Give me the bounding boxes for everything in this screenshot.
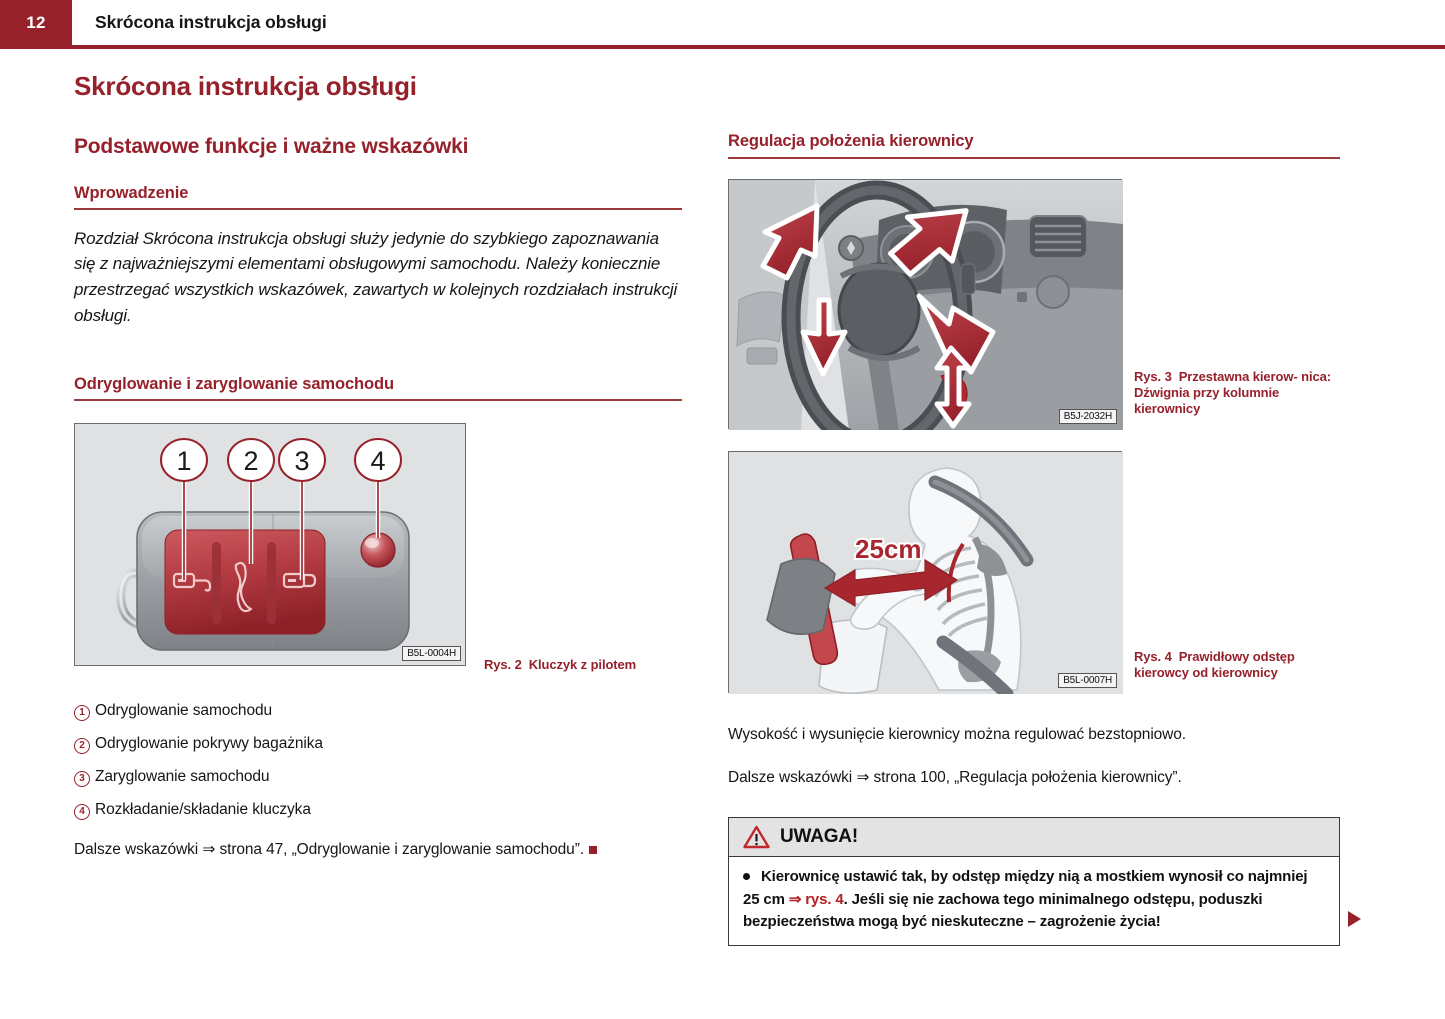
callout-number-2: 2 — [74, 738, 90, 754]
warning-figure-reference: ⇒ rys. 4 — [789, 891, 844, 908]
key-fob-illustration: 1 2 3 4 — [75, 424, 467, 667]
warning-bullet — [743, 873, 750, 880]
steering-wheel-illustration — [729, 180, 1123, 430]
figure-code-label: B5J-2032H — [1059, 409, 1117, 424]
figure-callout-3: 3 — [279, 439, 325, 481]
distance-label: 25cm — [855, 534, 922, 564]
list-item-label: Rozkładanie/składanie kluczyka — [95, 801, 311, 819]
warning-title: UWAGA! — [780, 826, 858, 848]
warning-text: Kierownicę ustawić tak, by odstęp między… — [743, 866, 1325, 932]
figure-callout-4: 4 — [355, 439, 401, 481]
warning-header: UWAGA! — [729, 818, 1339, 857]
key-fob-button-list: 1 Odryglowanie samochodu 2 Odryglowanie … — [74, 702, 682, 820]
figure-caption-key-fob: Rys. 2 Kluczyk z pilotem — [484, 657, 684, 673]
list-item: 3 Zaryglowanie samochodu — [74, 768, 682, 787]
section-title-basic-functions: Podstawowe funkcje i ważne wskazówki — [74, 135, 682, 158]
svg-text:2: 2 — [243, 446, 258, 476]
header-title: Skrócona instrukcja obsługi — [95, 0, 327, 45]
list-item: 4 Rozkładanie/składanie kluczyka — [74, 801, 682, 820]
figure-caption-steering-wheel: Rys. 3 Przestawna kierow- nica: Dźwignia… — [1134, 369, 1340, 418]
left-column: Skrócona instrukcja obsługi Podstawowe f… — [74, 72, 682, 861]
page-header: 12 Skrócona instrukcja obsługi — [0, 0, 1445, 49]
further-info-note-left: Dalsze wskazówki ⇒ strona 47, „Odryglowa… — [74, 838, 682, 861]
figure-caption-text: Kluczyk z pilotem — [529, 657, 636, 672]
figure-caption-driver-distance: Rys. 4 Prawidłowy odstęp kierowcy od kie… — [1134, 649, 1340, 682]
callout-number-3: 3 — [74, 771, 90, 787]
right-column: Regulacja położenia kierownicy — [728, 132, 1340, 946]
svg-text:4: 4 — [370, 446, 385, 476]
warning-box: UWAGA! Kierownicę ustawić tak, by odstęp… — [728, 817, 1340, 945]
subsection-title-steering-adjust: Regulacja położenia kierownicy — [728, 132, 1340, 159]
list-item: 1 Odryglowanie samochodu — [74, 702, 682, 721]
steering-paragraph-2: Dalsze wskazówki ⇒ strona 100, „Regulacj… — [728, 766, 1340, 789]
callout-number-1: 1 — [74, 705, 90, 721]
list-item-label: Odryglowanie pokrywy bagażnika — [95, 735, 323, 753]
figure-callout-2: 2 — [228, 439, 274, 481]
warning-body: Kierownicę ustawić tak, by odstęp między… — [729, 857, 1339, 944]
page-number: 12 — [0, 0, 72, 45]
figure-caption-label: Rys. 2 — [484, 657, 522, 672]
callout-number-4: 4 — [74, 804, 90, 820]
steering-paragraph-1: Wysokość i wysunięcie kierownicy można r… — [728, 723, 1340, 746]
figure-driver-distance: 25cm B5L-0007H — [728, 451, 1122, 693]
end-of-section-marker — [589, 846, 597, 854]
svg-text:3: 3 — [294, 446, 309, 476]
figure-caption-label: Rys. 3 — [1134, 369, 1172, 384]
svg-text:1: 1 — [176, 446, 191, 476]
further-info-text: Dalsze wskazówki ⇒ strona 47, „Odryglowa… — [74, 841, 584, 858]
figure-caption-label: Rys. 4 — [1134, 649, 1172, 664]
page-title: Skrócona instrukcja obsługi — [74, 72, 682, 101]
figure-code-label: B5L-0007H — [1058, 673, 1117, 688]
subsection-title-locking: Odryglowanie i zaryglowanie samochodu — [74, 375, 682, 401]
figure-callout-1: 1 — [161, 439, 207, 481]
list-item-label: Zaryglowanie samochodu — [95, 768, 269, 786]
list-item-label: Odryglowanie samochodu — [95, 702, 272, 720]
key-release-button — [361, 533, 395, 567]
figure-steering-wheel: B5J-2032H — [728, 179, 1122, 429]
figure-code-label: B5L-0004H — [402, 646, 461, 661]
list-item: 2 Odryglowanie pokrywy bagażnika — [74, 735, 682, 754]
figure-key-fob: 1 2 3 4 B5L-0004H — [74, 423, 466, 666]
driver-distance-illustration: 25cm — [729, 452, 1123, 694]
subsection-title-introduction: Wprowadzenie — [74, 184, 682, 210]
next-page-arrow-icon — [1348, 911, 1361, 927]
header-rule — [0, 45, 1445, 49]
warning-triangle-icon — [743, 825, 770, 849]
introduction-paragraph: Rozdział Skrócona instrukcja obsługi słu… — [74, 226, 682, 329]
